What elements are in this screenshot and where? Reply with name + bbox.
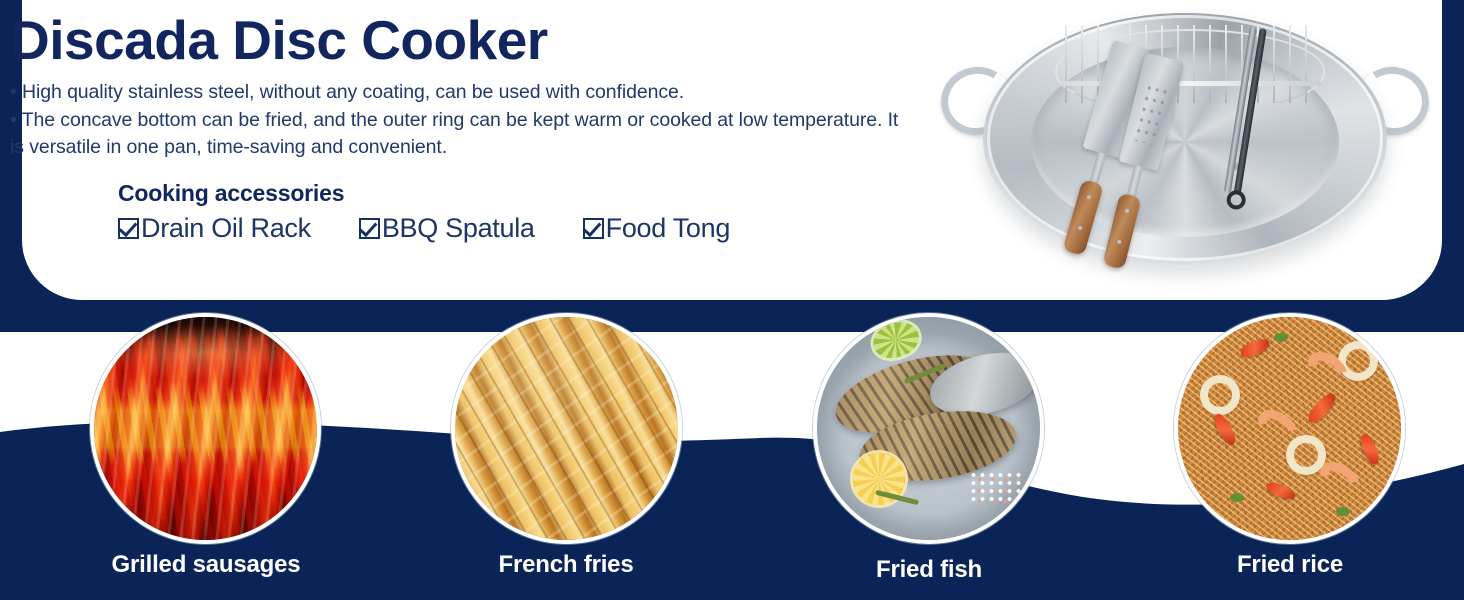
herb-garnish-icon	[1274, 333, 1288, 342]
infographic-banner: Discada Disc Cooker • High quality stain…	[0, 0, 1464, 600]
spatula-perforations	[1132, 82, 1170, 146]
herb-garnish-icon	[1336, 507, 1350, 516]
feature-bullet: • The concave bottom can be fried, and t…	[10, 107, 915, 162]
spatula-neck	[1127, 165, 1143, 196]
product-photo-disc-cooker	[935, 5, 1435, 295]
accessory-item-bbq-spatula[interactable]: BBQ Spatula	[359, 213, 535, 244]
rack-front-edge	[1059, 81, 1321, 86]
rice-photo	[1178, 317, 1401, 540]
sausages-photo	[94, 317, 317, 540]
use-case-caption-fried-fish: Fried fish	[785, 556, 1073, 584]
use-case-caption-fried-rice: Fried rice	[1145, 551, 1435, 579]
use-case-image-fried-rice	[1174, 313, 1405, 544]
accessory-label: BBQ Spatula	[382, 213, 535, 244]
calamari-ring-icon	[1200, 375, 1240, 415]
drain-oil-rack-icon	[1055, 25, 1325, 103]
feature-bullet-list: • High quality stainless steel, without …	[10, 79, 950, 162]
checkbox-checked-icon[interactable]	[583, 218, 604, 239]
use-case-image-fried-fish	[813, 313, 1044, 544]
salt-flakes	[969, 471, 1021, 505]
checkbox-checked-icon[interactable]	[359, 218, 380, 239]
feature-bullet: • High quality stainless steel, without …	[10, 79, 950, 107]
fish-photo	[817, 317, 1040, 540]
accessory-item-drain-oil-rack[interactable]: Drain Oil Rack	[118, 213, 311, 244]
accessory-label: Food Tong	[606, 213, 730, 244]
accessory-item-food-tong[interactable]: Food Tong	[583, 213, 730, 244]
lime-slice-icon	[869, 317, 923, 364]
fries-photo	[455, 317, 678, 540]
accessories-heading: Cooking accessories	[118, 180, 950, 207]
use-case-caption-grilled-sausages: Grilled sausages	[50, 551, 362, 579]
spatula-neck	[1089, 152, 1106, 183]
rack-hoop	[1055, 29, 1325, 103]
checkbox-checked-icon[interactable]	[118, 218, 139, 239]
herb-garnish-icon	[1230, 493, 1244, 502]
accessory-label: Drain Oil Rack	[141, 213, 311, 244]
spatula-wood-handle	[1102, 193, 1141, 270]
page-title: Discada Disc Cooker	[10, 8, 950, 73]
accessories-checklist: Drain Oil Rack BBQ Spatula Food Tong	[118, 213, 950, 244]
use-case-image-grilled-sausages	[90, 313, 321, 544]
use-case-image-french-fries	[451, 313, 682, 544]
use-case-caption-french-fries: French fries	[420, 551, 712, 579]
hero-text-block: Discada Disc Cooker • High quality stain…	[10, 8, 950, 244]
accessories-block: Cooking accessories Drain Oil Rack BBQ S…	[10, 180, 950, 244]
